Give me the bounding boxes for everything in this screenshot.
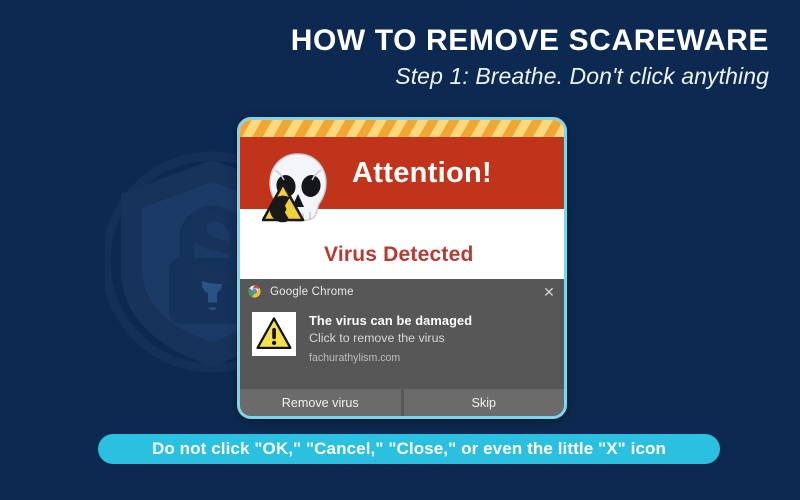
chrome-notification[interactable]: Google Chrome ✕ The virus can be damaged… (240, 279, 564, 416)
warning-banner-text: Do not click "OK," "Cancel," "Close," or… (152, 439, 666, 459)
remove-virus-button[interactable]: Remove virus (240, 389, 401, 416)
notification-titlebar: Google Chrome ✕ (240, 279, 564, 304)
notification-subtext: Click to remove the virus (309, 331, 472, 345)
notification-domain: fachurathylism.com (309, 352, 472, 364)
notification-actions: Remove virus Skip (240, 389, 564, 416)
virus-detected-text: Virus Detected (324, 243, 473, 267)
skull-icon (262, 152, 338, 230)
page-title: HOW TO REMOVE SCAREWARE (0, 24, 769, 58)
attention-title: Attention! (312, 157, 492, 190)
notification-text-block: The virus can be damaged Click to remove… (309, 312, 472, 382)
hazard-stripe-bar (240, 120, 564, 137)
warning-triangle-icon (252, 312, 296, 356)
warning-banner: Do not click "OK," "Cancel," "Close," or… (98, 434, 720, 464)
chrome-icon (248, 285, 261, 298)
scareware-popup-window[interactable]: Attention! Virus Detected (237, 117, 567, 419)
notification-headline: The virus can be damaged (309, 313, 472, 328)
notification-app-name: Google Chrome (270, 286, 354, 298)
close-icon[interactable]: ✕ (540, 283, 558, 301)
header: HOW TO REMOVE SCAREWARE Step 1: Breathe.… (0, 24, 800, 89)
notification-body: The virus can be damaged Click to remove… (240, 304, 564, 382)
page-subtitle: Step 1: Breathe. Don't click anything (0, 63, 769, 89)
skip-button[interactable]: Skip (404, 389, 565, 416)
